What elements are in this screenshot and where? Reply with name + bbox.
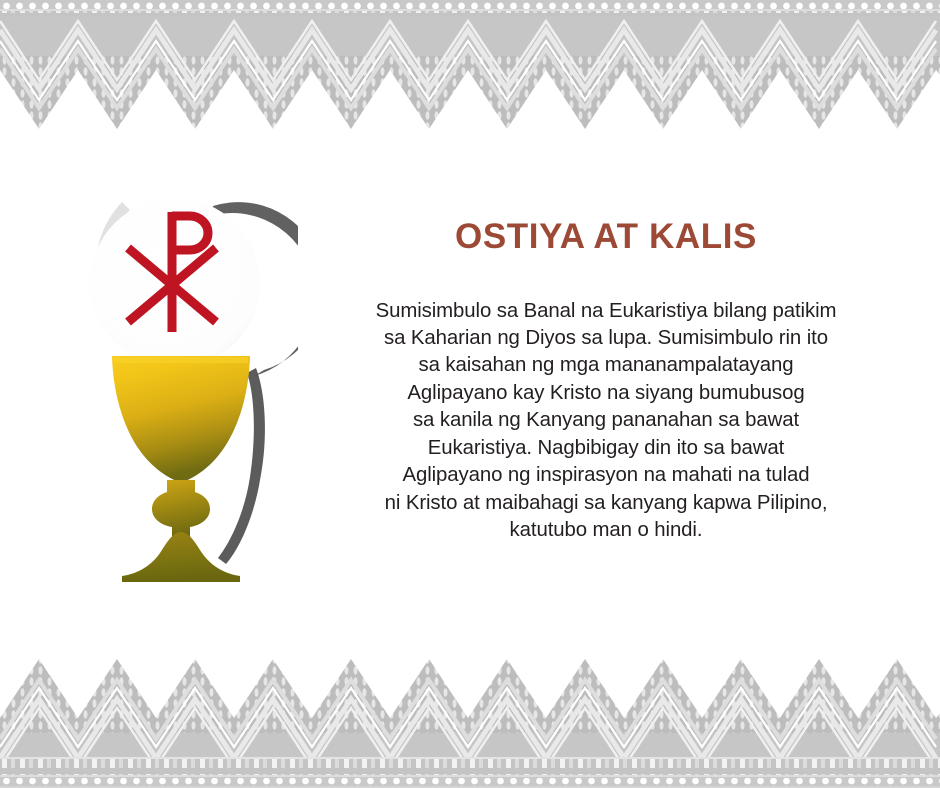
poster-canvas: OSTIYA AT KALIS Sumisimbulo sa Banal na … — [0, 0, 940, 788]
eucharistic-host-and-chalice-illustration — [68, 180, 298, 585]
chalice-stem-and-node — [152, 480, 210, 540]
emblem-graphic — [68, 180, 298, 585]
description-paragraph: Sumisimbulo sa Banal na Eukaristiya bila… — [326, 298, 886, 545]
woven-chevron-band-bottom — [0, 643, 940, 788]
chalice-rim-highlight — [114, 357, 248, 363]
page-title: OSTIYA AT KALIS — [326, 218, 886, 257]
woven-chevron-band-top — [0, 0, 940, 130]
top-border-graphic — [0, 0, 940, 130]
chalice-cup — [112, 356, 250, 482]
bottom-border-graphic — [0, 643, 940, 788]
text-column: OSTIYA AT KALIS Sumisimbulo sa Banal na … — [326, 218, 886, 544]
